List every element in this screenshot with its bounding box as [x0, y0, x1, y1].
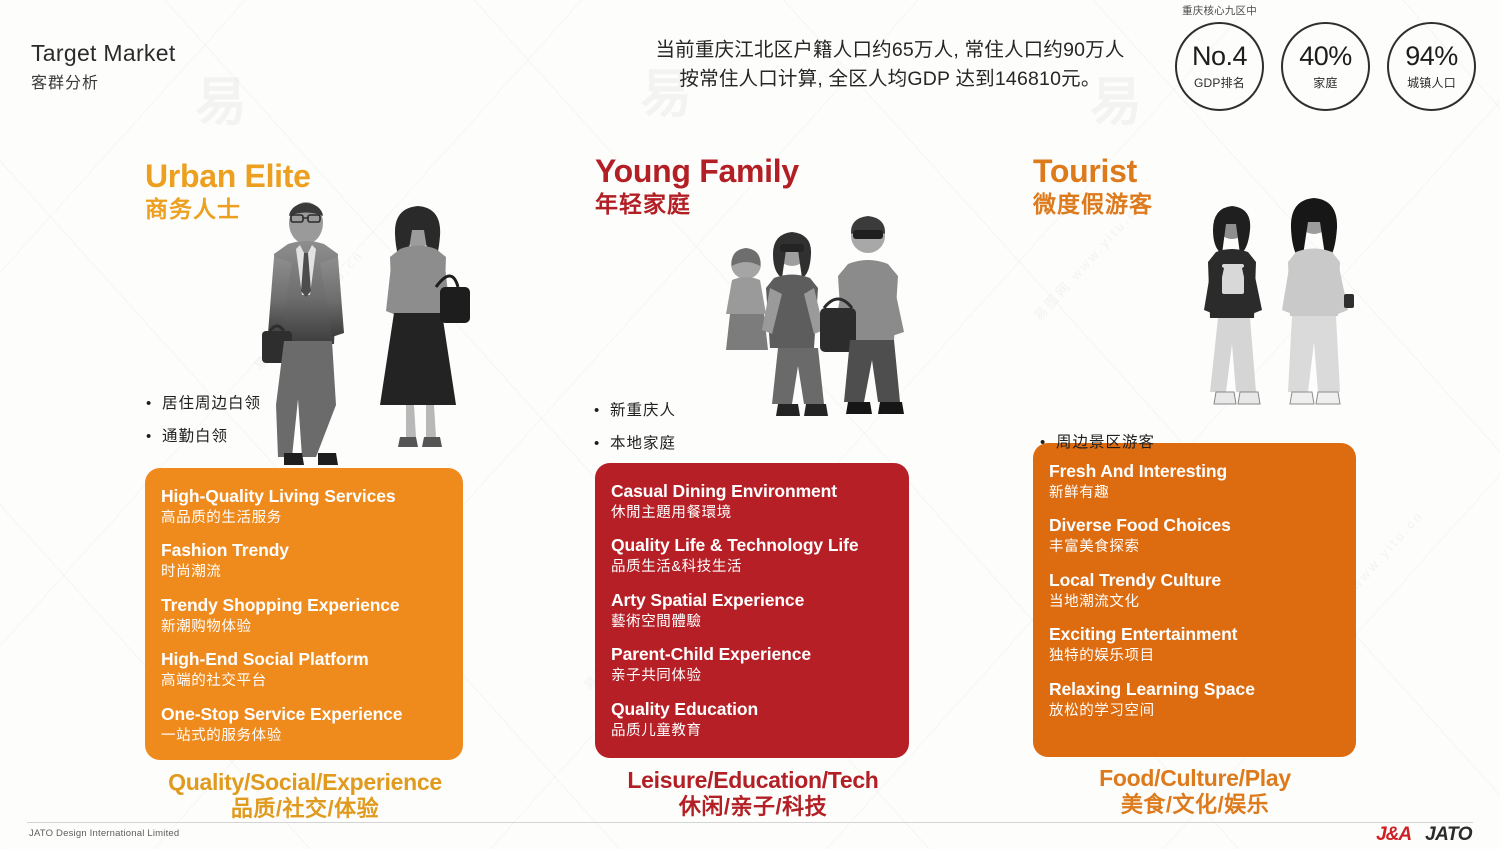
- card-item-en: Arty Spatial Experience: [611, 590, 893, 611]
- card-item: Quality Education 品质儿童教育: [611, 699, 893, 740]
- card-item-cn: 亲子共同体验: [611, 667, 893, 686]
- card-item-cn: 品质生活&科技生活: [611, 558, 893, 577]
- stat-circle-label: 城镇人口: [1407, 74, 1456, 91]
- list-item: • 周边景区游客: [1040, 435, 1155, 451]
- header-stat-line-1: 当前重庆江北区户籍人口约65万人, 常住人口约90万人: [620, 36, 1160, 65]
- card-item: Trendy Shopping Experience 新潮购物体验: [161, 595, 447, 636]
- tagline-young-family: Leisure/Education/Tech 休闲/亲子/科技: [588, 768, 918, 820]
- card-item: High-End Social Platform 高端的社交平台: [161, 649, 447, 690]
- card-item-en: Parent-Child Experience: [611, 644, 893, 665]
- stat-circle-value: 94%: [1405, 43, 1458, 70]
- ja-logo: J&A: [1376, 824, 1411, 846]
- bullet-label: 本地家庭: [610, 436, 676, 452]
- stat-circle-caption: 重庆核心九区中: [1182, 3, 1257, 18]
- watermark-glyph: 易: [275, 270, 329, 345]
- card-item-en: High-End Social Platform: [161, 649, 447, 670]
- list-item: • 新重庆人: [594, 403, 676, 419]
- card-item: Casual Dining Environment 休閒主題用餐環境: [611, 481, 893, 522]
- bullet-list-tourist: • 周边景区游客: [1040, 435, 1155, 468]
- watermark-glyph: 易: [195, 60, 249, 135]
- bullet-label: 通勤白领: [162, 429, 228, 445]
- card-item-cn: 藝術空間體驗: [611, 613, 893, 632]
- stat-circle-gdp-rank: 重庆核心九区中 No.4 GDP排名: [1175, 22, 1264, 111]
- tagline-tourist: Food/Culture/Play 美食/文化/娱乐: [1025, 766, 1365, 818]
- card-item-cn: 放松的学习空间: [1049, 702, 1340, 721]
- bullet-label: 周边景区游客: [1056, 435, 1155, 451]
- footer-company-name: JATO Design International Limited: [29, 828, 179, 839]
- column-young-family: Young Family 年轻家庭: [595, 155, 909, 218]
- card-item: Fashion Trendy 时尚潮流: [161, 540, 447, 581]
- card-item: Exciting Entertainment 独特的娱乐项目: [1049, 624, 1340, 665]
- bullet-list-urban-elite: • 居住周边白领 • 通勤白领: [146, 396, 261, 463]
- tagline-cn: 美食/文化/娱乐: [1025, 792, 1365, 817]
- bullet-label: 居住周边白领: [162, 396, 261, 412]
- card-item: Relaxing Learning Space 放松的学习空间: [1049, 679, 1340, 720]
- card-item-en: Diverse Food Choices: [1049, 515, 1340, 536]
- list-item: • 通勤白领: [146, 429, 261, 445]
- tagline-urban-elite: Quality/Social/Experience 品质/社交/体验: [135, 770, 475, 822]
- list-item: • 本地家庭: [594, 436, 676, 452]
- footer-divider: [27, 822, 1473, 823]
- card-item-cn: 当地潮流文化: [1049, 593, 1340, 612]
- card-item-cn: 休閒主題用餐環境: [611, 504, 893, 523]
- tagline-cn: 品质/社交/体验: [135, 796, 475, 821]
- list-item: • 居住周边白领: [146, 396, 261, 412]
- card-item-en: High-Quality Living Services: [161, 486, 447, 507]
- card-item-en: Local Trendy Culture: [1049, 570, 1340, 591]
- card-item-cn: 丰富美食探索: [1049, 538, 1340, 557]
- card-item-en: Quality Life & Technology Life: [611, 535, 893, 556]
- page-title-en: Target Market: [31, 40, 176, 66]
- card-item: High-Quality Living Services 高品质的生活服务: [161, 486, 447, 527]
- page-title-cn: 客群分析: [31, 69, 176, 93]
- bullet-dot-icon: •: [1040, 435, 1056, 451]
- card-item-cn: 品质儿童教育: [611, 722, 893, 741]
- card-item-en: Quality Education: [611, 699, 893, 720]
- column-tourist: Tourist 微度假游客: [1033, 155, 1356, 218]
- jato-logo: JATO: [1425, 824, 1472, 846]
- card-item-cn: 新鲜有趣: [1049, 484, 1340, 503]
- card-item-cn: 高品质的生活服务: [161, 509, 447, 528]
- tagline-cn: 休闲/亲子/科技: [588, 794, 918, 819]
- footer-logo-group: J&A JATO: [1376, 824, 1472, 846]
- column-title-en: Tourist: [1033, 155, 1356, 189]
- bullet-dot-icon: •: [146, 429, 162, 445]
- card-item-cn: 新潮购物体验: [161, 618, 447, 637]
- bullet-dot-icon: •: [594, 436, 610, 452]
- people-photo-young-family: [700, 198, 950, 463]
- card-item: Parent-Child Experience 亲子共同体验: [611, 644, 893, 685]
- feature-card-tourist: Fresh And Interesting 新鲜有趣 Diverse Food …: [1033, 443, 1356, 757]
- card-item-en: One-Stop Service Experience: [161, 704, 447, 725]
- card-item: Arty Spatial Experience 藝術空間體驗: [611, 590, 893, 631]
- tagline-en: Quality/Social/Experience: [135, 770, 475, 795]
- card-item-cn: 一站式的服务体验: [161, 727, 447, 746]
- stat-circle-value: 40%: [1299, 43, 1352, 70]
- watermark-text: 易图网 www.yitu.cn: [249, 245, 368, 374]
- column-title-en: Urban Elite: [145, 160, 463, 194]
- feature-card-young-family: Casual Dining Environment 休閒主題用餐環境 Quali…: [595, 463, 909, 758]
- column-title-en: Young Family: [595, 155, 909, 189]
- stat-circle-family: 40% 家庭: [1281, 22, 1370, 111]
- page-title: Target Market 客群分析: [31, 40, 176, 93]
- card-item: Diverse Food Choices 丰富美食探索: [1049, 515, 1340, 556]
- card-item-en: Fashion Trendy: [161, 540, 447, 561]
- card-item-en: Relaxing Learning Space: [1049, 679, 1340, 700]
- stat-circle-group: 重庆核心九区中 No.4 GDP排名 40% 家庭 94% 城镇人口: [1175, 22, 1476, 111]
- card-item: One-Stop Service Experience 一站式的服务体验: [161, 704, 447, 745]
- column-urban-elite: Urban Elite 商务人士: [145, 160, 463, 223]
- stat-circle-urban-population: 94% 城镇人口: [1387, 22, 1476, 111]
- card-item-en: Trendy Shopping Experience: [161, 595, 447, 616]
- header-statistics-text: 当前重庆江北区户籍人口约65万人, 常住人口约90万人 按常住人口计算, 全区人…: [620, 36, 1160, 94]
- stat-circle-outline: No.4 GDP排名: [1175, 22, 1264, 111]
- card-item: Local Trendy Culture 当地潮流文化: [1049, 570, 1340, 611]
- header-stat-line-2: 按常住人口计算, 全区人均GDP 达到146810元。: [620, 65, 1160, 94]
- column-title-cn: 微度假游客: [1033, 191, 1356, 219]
- column-title-cn: 商务人士: [145, 196, 463, 224]
- stat-circle-value: No.4: [1192, 43, 1247, 70]
- feature-card-urban-elite: High-Quality Living Services 高品质的生活服务 Fa…: [145, 468, 463, 760]
- stat-circle-outline: 94% 城镇人口: [1387, 22, 1476, 111]
- stat-circle-outline: 40% 家庭: [1281, 22, 1370, 111]
- tagline-en: Food/Culture/Play: [1025, 766, 1365, 791]
- bullet-label: 新重庆人: [610, 403, 676, 419]
- card-item-en: Exciting Entertainment: [1049, 624, 1340, 645]
- card-item-en: Casual Dining Environment: [611, 481, 893, 502]
- card-item-cn: 时尚潮流: [161, 563, 447, 582]
- people-photo-tourist: [1180, 190, 1380, 450]
- people-photo-urban-elite: [240, 195, 500, 470]
- stat-circle-label: GDP排名: [1194, 74, 1245, 91]
- stat-circle-label: 家庭: [1313, 74, 1337, 91]
- bullet-list-young-family: • 新重庆人 • 本地家庭: [594, 403, 676, 470]
- card-item-cn: 独特的娱乐项目: [1049, 647, 1340, 666]
- slide-canvas: 易 易 易 易 易 易 易图网 www.yitu.cn 易图网 www.yitu…: [0, 0, 1500, 849]
- column-title-cn: 年轻家庭: [595, 191, 909, 219]
- card-item: Quality Life & Technology Life 品质生活&科技生活: [611, 535, 893, 576]
- tagline-en: Leisure/Education/Tech: [588, 768, 918, 793]
- card-item-cn: 高端的社交平台: [161, 672, 447, 691]
- bullet-dot-icon: •: [594, 403, 610, 419]
- bullet-dot-icon: •: [146, 396, 162, 412]
